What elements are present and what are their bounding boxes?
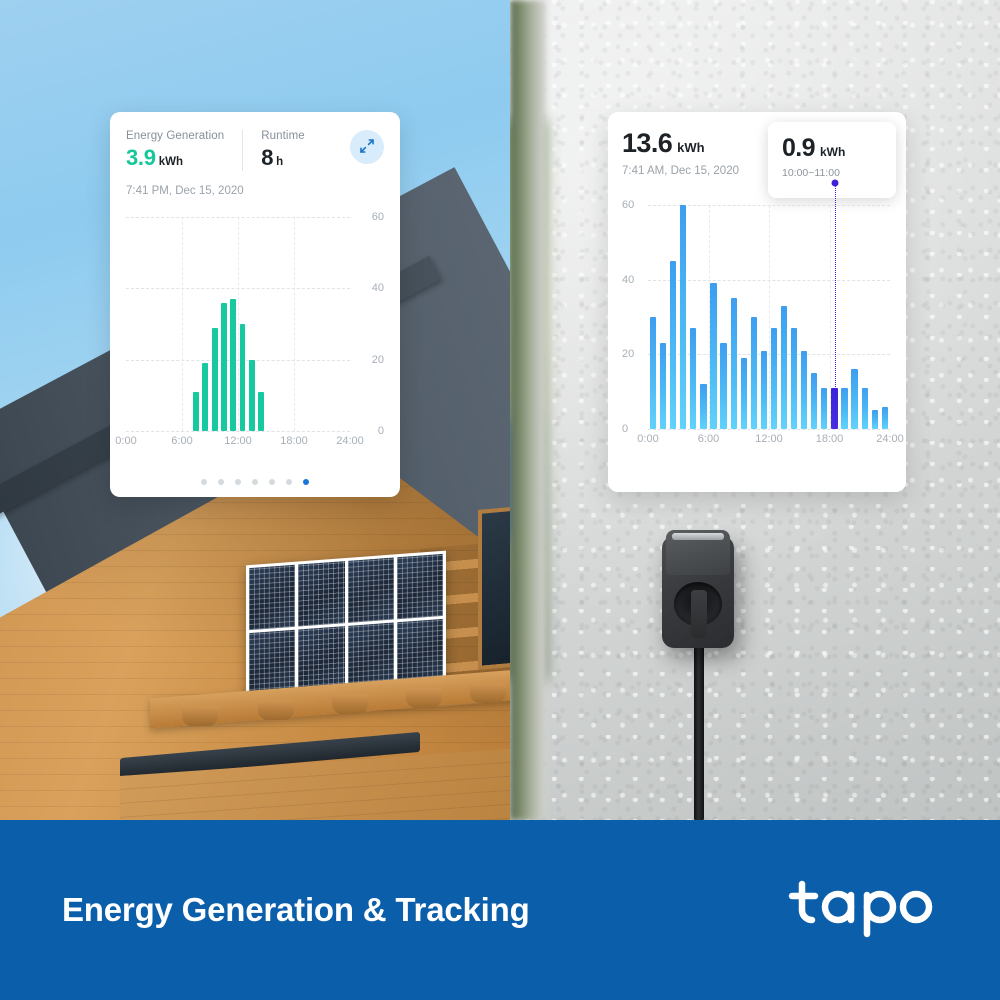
chart-x-axis-right: 0:006:0012:0018:0024:00	[648, 433, 890, 451]
product-scene: Energy Generation 3.9 kWh Runtime 8 h	[0, 0, 1000, 820]
chart-bar[interactable]	[221, 303, 227, 431]
chart-y-tick: 60	[354, 211, 384, 223]
chart-x-tick: 24:00	[876, 433, 904, 445]
chart-bar[interactable]	[821, 388, 827, 429]
solar-cell	[298, 561, 344, 626]
chart-bar-slot[interactable]	[860, 205, 870, 429]
chart-y-tick: 20	[354, 354, 384, 366]
chart-x-tick: 0:00	[637, 433, 658, 445]
chart-bar-slot[interactable]	[163, 217, 172, 431]
chart-x-tick: 12:00	[224, 435, 252, 447]
chart-bar[interactable]	[862, 388, 868, 429]
chart-bar-slot[interactable]	[266, 217, 275, 431]
chart-y-tick: 60	[622, 199, 644, 211]
energy-generation-chart: 0204060 0:006:0012:0018:0024:00	[126, 217, 384, 453]
chart-bar[interactable]	[811, 373, 817, 429]
kpi-row: Energy Generation 3.9 kWh Runtime 8 h	[126, 130, 384, 171]
kpi-unit-runtime: h	[276, 156, 283, 168]
energy-generation-card: Energy Generation 3.9 kWh Runtime 8 h	[110, 112, 400, 497]
kpi-label-runtime: Runtime	[261, 130, 305, 142]
chart-bar-slot[interactable]	[173, 217, 182, 431]
wall-corner-edge	[510, 0, 546, 820]
chart-bar-slot[interactable]	[648, 205, 658, 429]
chart-marker-dot	[831, 180, 838, 187]
kpi-number-energy-generation: 3.9	[126, 145, 156, 171]
chart-x-tick: 12:00	[755, 433, 783, 445]
chart-bar-slot[interactable]	[247, 217, 256, 431]
chart-bar[interactable]	[660, 343, 666, 429]
expand-button[interactable]	[350, 130, 384, 164]
tooltip-value: 0.9	[782, 134, 815, 163]
chart-bar[interactable]	[841, 388, 847, 429]
kpi-label-energy-generation: Energy Generation	[126, 130, 224, 142]
plug-power-cord	[694, 636, 704, 820]
balcony-joist	[182, 706, 218, 726]
expand-arrows-icon	[359, 138, 375, 157]
chart-bar-slot[interactable]	[759, 205, 769, 429]
chart-bar-slot[interactable]	[739, 205, 749, 429]
chart-bar[interactable]	[882, 407, 888, 429]
chart-tooltip: 0.9 kWh 10:00~11:00	[768, 122, 896, 198]
chart-bar-slot[interactable]	[201, 217, 210, 431]
tooltip-value-row: 0.9 kWh	[782, 134, 896, 163]
pager-dot[interactable]	[269, 479, 275, 485]
chart-bar-slot[interactable]	[229, 217, 238, 431]
chart-gridline-h	[126, 431, 350, 432]
chart-bar-slot[interactable]	[341, 217, 350, 431]
chart-x-tick: 6:00	[171, 435, 192, 447]
cabin-window	[478, 506, 510, 670]
chart-bar-slot[interactable]	[294, 217, 303, 431]
kpi-value-runtime: 8 h	[261, 145, 305, 171]
chart-y-tick: 40	[622, 274, 644, 286]
chart-bar[interactable]	[801, 351, 807, 429]
chart-bar-slot[interactable]	[275, 217, 284, 431]
chart-bar[interactable]	[212, 328, 218, 431]
pager-dot[interactable]	[303, 479, 309, 485]
chart-bar[interactable]	[230, 299, 236, 431]
chart-bar[interactable]	[761, 351, 767, 429]
chart-x-tick: 18:00	[280, 435, 308, 447]
pager-dot[interactable]	[218, 479, 224, 485]
chart-bar-slot[interactable]	[839, 205, 849, 429]
solar-cell	[249, 565, 295, 630]
solar-cell	[298, 626, 344, 691]
chart-bar-slot[interactable]	[238, 217, 247, 431]
chart-bars	[648, 205, 890, 429]
chart-x-tick: 6:00	[698, 433, 719, 445]
card-pager[interactable]	[110, 479, 400, 485]
chart-bars	[126, 217, 350, 431]
solar-panel	[246, 551, 446, 699]
chart-x-tick: 24:00	[336, 435, 364, 447]
smart-plug-top-slot	[672, 533, 724, 540]
solar-cell	[348, 557, 394, 622]
chart-bar[interactable]	[690, 328, 696, 429]
chart-bar[interactable]	[650, 317, 656, 429]
smart-plug-prong	[691, 590, 707, 638]
banner-title: Energy Generation & Tracking	[62, 891, 530, 929]
chart-bar-slot[interactable]	[303, 217, 312, 431]
tapo-logo	[788, 876, 938, 945]
chart-bar[interactable]	[710, 283, 716, 429]
chart-bar[interactable]	[741, 358, 747, 429]
solar-cell	[348, 622, 394, 687]
kpi-energy-generation: Energy Generation 3.9 kWh	[126, 130, 242, 171]
chart-bar-slot[interactable]	[145, 217, 154, 431]
pager-dot[interactable]	[235, 479, 241, 485]
chart-y-tick: 20	[622, 348, 644, 360]
chart-bar[interactable]	[720, 343, 726, 429]
chart-bar-slot[interactable]	[688, 205, 698, 429]
chart-bar-slot[interactable]	[135, 217, 144, 431]
chart-plot-area-left: 0204060	[126, 217, 350, 431]
solar-cell	[249, 630, 295, 695]
solar-cell	[397, 619, 443, 684]
chart-bar-slot[interactable]	[850, 205, 860, 429]
pager-dot[interactable]	[201, 479, 207, 485]
chart-plot-area-right: 0204060	[648, 205, 890, 429]
chart-bar[interactable]	[258, 392, 264, 431]
chart-bar-slot[interactable]	[257, 217, 266, 431]
chart-bar[interactable]	[751, 317, 757, 429]
chart-bar[interactable]	[249, 360, 255, 431]
chart-bar-slot[interactable]	[285, 217, 294, 431]
chart-x-axis-left: 0:006:0012:0018:0024:00	[126, 435, 350, 453]
chart-bar[interactable]	[670, 261, 676, 429]
chart-bar-slot[interactable]	[313, 217, 322, 431]
chart-y-tick: 40	[354, 282, 384, 294]
left-card-timestamp: 7:41 PM, Dec 15, 2020	[126, 185, 384, 197]
chart-bar[interactable]	[680, 205, 686, 429]
chart-bar-slot[interactable]	[719, 205, 729, 429]
tooltip-unit: kWh	[820, 145, 845, 163]
balcony-joist	[258, 700, 294, 720]
pager-dot[interactable]	[286, 479, 292, 485]
chart-bar-slot[interactable]	[126, 217, 135, 431]
chart-bar-slot[interactable]	[191, 217, 200, 431]
solar-panel-grid	[249, 554, 443, 695]
chart-x-tick: 18:00	[816, 433, 844, 445]
chart-gridline-h	[648, 429, 890, 430]
chart-bar-slot[interactable]	[870, 205, 880, 429]
energy-monitoring-card: 13.6 kWh 7:41 AM, Dec 15, 2020 0.9 kWh 1…	[608, 112, 906, 492]
chart-bar[interactable]	[202, 363, 208, 431]
chart-bar-slot[interactable]	[769, 205, 779, 429]
chart-bar[interactable]	[771, 328, 777, 429]
bottom-banner: Energy Generation & Tracking	[0, 820, 1000, 1000]
chart-bar[interactable]	[791, 328, 797, 429]
chart-bar-slot[interactable]	[322, 217, 331, 431]
tooltip-time-range: 10:00~11:00	[782, 167, 896, 179]
chart-bar[interactable]	[851, 369, 857, 429]
kpi-number-runtime: 8	[261, 145, 273, 171]
balcony-joist	[470, 683, 506, 703]
chart-bar-slot[interactable]	[729, 205, 739, 429]
chart-bar[interactable]	[240, 324, 246, 431]
chart-bar-slot[interactable]	[779, 205, 789, 429]
energy-monitoring-chart: 0204060 0:006:0012:0018:0024:00	[622, 205, 894, 451]
chart-bar-slot[interactable]	[749, 205, 759, 429]
chart-bar-slot[interactable]	[210, 217, 219, 431]
chart-bar-slot[interactable]	[698, 205, 708, 429]
chart-bar-slot[interactable]	[154, 217, 163, 431]
chart-bar-slot[interactable]	[819, 205, 829, 429]
chart-bar-slot[interactable]	[668, 205, 678, 429]
chart-bar-slot[interactable]	[658, 205, 668, 429]
chart-bar-slot[interactable]	[708, 205, 718, 429]
chart-bar-slot[interactable]	[219, 217, 228, 431]
chart-bar[interactable]	[731, 298, 737, 429]
chart-bar-slot[interactable]	[789, 205, 799, 429]
chart-bar-slot[interactable]	[678, 205, 688, 429]
chart-bar-slot[interactable]	[182, 217, 191, 431]
chart-bar[interactable]	[193, 392, 199, 431]
kpi-runtime: Runtime 8 h	[242, 130, 323, 171]
chart-x-tick: 0:00	[115, 435, 136, 447]
pager-dot[interactable]	[252, 479, 258, 485]
kpi-unit-energy-generation: kWh	[159, 156, 183, 168]
solar-cell	[397, 554, 443, 619]
balcony-joist	[406, 688, 442, 708]
kpi-value-energy-generation: 3.9 kWh	[126, 145, 224, 171]
chart-bar-slot[interactable]	[331, 217, 340, 431]
chart-marker-line	[835, 183, 836, 429]
chart-bar[interactable]	[781, 306, 787, 429]
total-energy-value: 13.6	[622, 128, 672, 159]
total-energy-unit: kWh	[677, 140, 704, 159]
chart-bar-slot[interactable]	[809, 205, 819, 429]
chart-bar-slot[interactable]	[799, 205, 809, 429]
chart-bar[interactable]	[700, 384, 706, 429]
chart-bar-slot[interactable]	[880, 205, 890, 429]
balcony-joist	[332, 694, 368, 714]
chart-bar[interactable]	[872, 410, 878, 429]
